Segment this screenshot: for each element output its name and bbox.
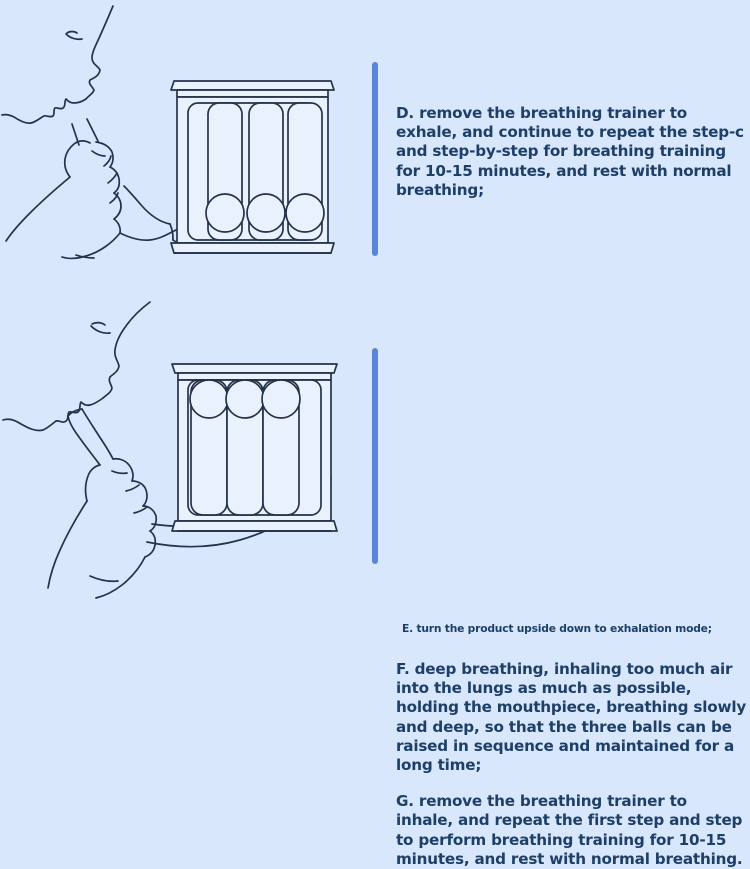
person-inhaling-with-inverted-breathing-trainer [0, 300, 366, 608]
step-d-text: D. remove the breathing trainer to exhal… [396, 104, 748, 200]
person-exhaling-with-breathing-trainer [0, 0, 366, 300]
text-gap-f-g [396, 775, 748, 792]
panel-divider-bottom [372, 348, 378, 564]
instruction-diagram-page: D. remove the breathing trainer to exhal… [0, 0, 750, 608]
text-gap-e-f [396, 636, 748, 660]
instruction-text-top: D. remove the breathing trainer to exhal… [396, 104, 748, 200]
step-f-text: F. deep breathing, inhaling too much air… [396, 660, 748, 775]
instruction-panel-bottom: E. turn the product upside down to exhal… [0, 300, 750, 608]
instruction-panel-top: D. remove the breathing trainer to exhal… [0, 0, 750, 300]
step-g-text: G. remove the breathing trainer to inhal… [396, 792, 748, 869]
panel-divider-top [372, 62, 378, 256]
step-e-text: E. turn the product upside down to exhal… [402, 622, 748, 636]
instruction-text-bottom: E. turn the product upside down to exhal… [396, 622, 748, 869]
